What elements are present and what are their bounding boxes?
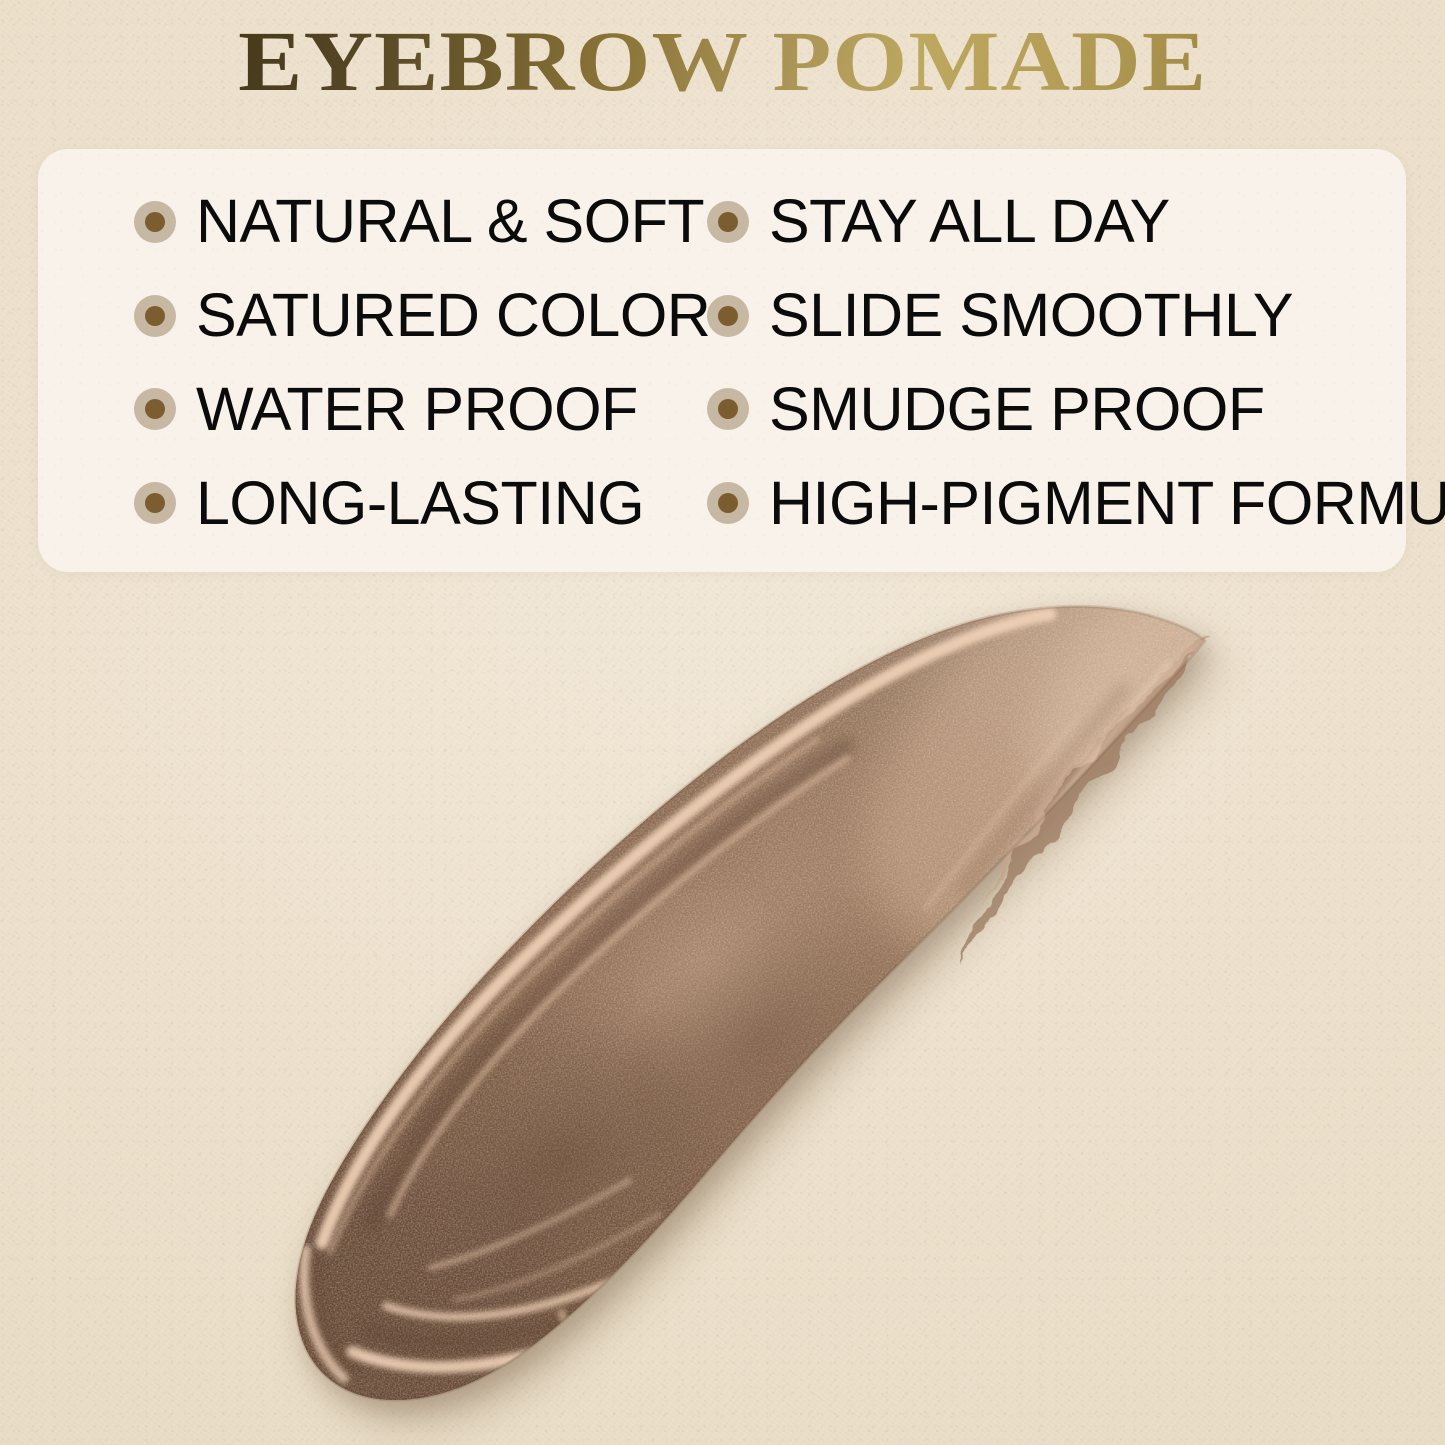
bullet-dot-icon: [707, 388, 749, 430]
bullet-dot-icon: [707, 482, 749, 524]
feature-label: SLIDE SMOOTHLY: [769, 285, 1293, 346]
feature-item-satured-color: SATURED COLOR: [38, 269, 693, 363]
feature-item-long-lasting: LONG-LASTING: [38, 456, 693, 550]
feature-item-slide-smoothly: SLIDE SMOOTHLY: [693, 269, 1406, 363]
feature-item-natural-and-soft: NATURAL & SOFT: [38, 175, 693, 269]
features-card: NATURAL & SOFT STAY ALL DAY SATURED COLO…: [38, 149, 1406, 572]
bullet-dot-icon: [134, 388, 176, 430]
page-title-container: EYEBROW POMADE: [0, 18, 1445, 104]
feature-item-water-proof: WATER PROOF: [38, 363, 693, 457]
bullet-dot-icon: [707, 295, 749, 337]
swatch-body: [154, 484, 1357, 1445]
feature-label: STAY ALL DAY: [769, 191, 1170, 252]
feature-item-smudge-proof: SMUDGE PROOF: [693, 363, 1406, 457]
bullet-dot-icon: [134, 295, 176, 337]
features-grid: NATURAL & SOFT STAY ALL DAY SATURED COLO…: [38, 149, 1406, 572]
feature-label: SATURED COLOR: [196, 285, 710, 346]
feature-label: LONG-LASTING: [196, 473, 644, 534]
bullet-dot-icon: [707, 201, 749, 243]
feature-item-high-pigment-formula: HIGH-PIGMENT FORMULA: [693, 456, 1406, 550]
page-title: EYEBROW POMADE: [238, 18, 1207, 104]
feature-label: SMUDGE PROOF: [769, 379, 1265, 440]
bullet-dot-icon: [134, 201, 176, 243]
product-infographic: EYEBROW POMADE NATURAL & SOFT STAY ALL D…: [0, 0, 1445, 1445]
feature-label: HIGH-PIGMENT FORMULA: [769, 473, 1445, 534]
feature-item-stay-all-day: STAY ALL DAY: [693, 175, 1406, 269]
bullet-dot-icon: [134, 482, 176, 524]
feature-label: NATURAL & SOFT: [196, 191, 704, 252]
feature-label: WATER PROOF: [196, 379, 638, 440]
